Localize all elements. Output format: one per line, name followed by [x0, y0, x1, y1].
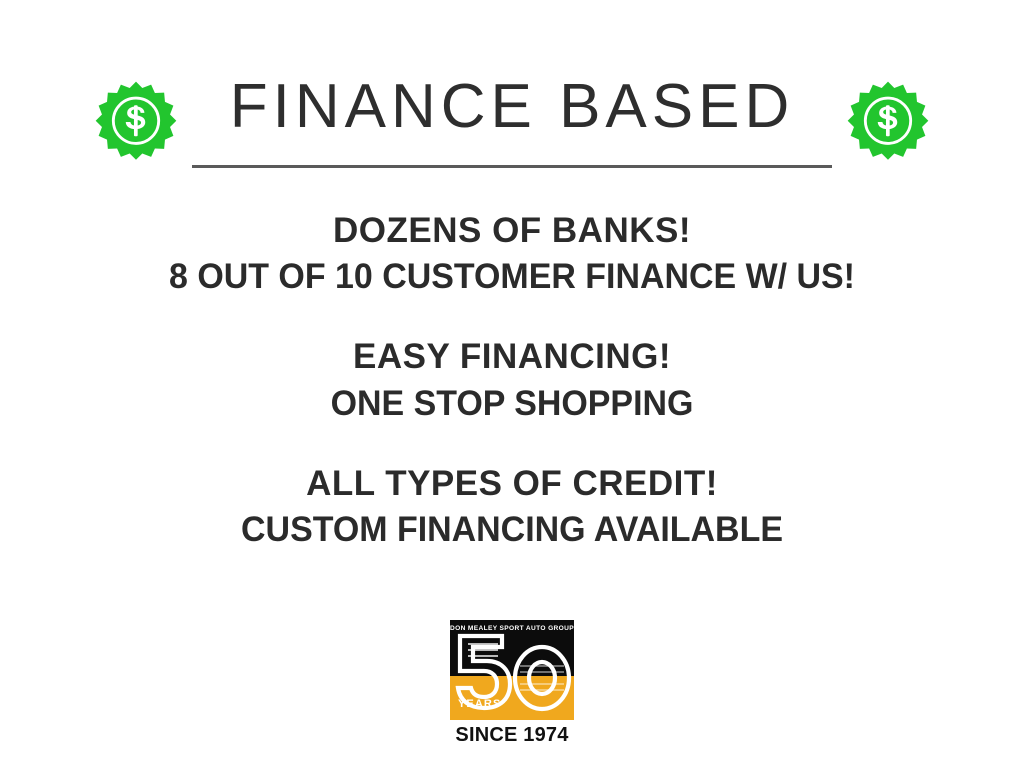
since-label: SINCE 1974: [450, 724, 574, 747]
header: FINANCE BASED: [0, 72, 1024, 182]
benefit-block-credit: ALL TYPES OF CREDIT! CUSTOM FINANCING AV…: [0, 461, 1024, 553]
benefit-headline: DOZENS OF BANKS!: [0, 208, 1024, 254]
benefit-headline: EASY FINANCING!: [0, 334, 1024, 380]
benefit-subline: CUSTOM FINANCING AVAILABLE: [15, 507, 1008, 553]
dealer-group-name: DON MEALEY SPORT AUTO GROUP: [450, 625, 574, 632]
benefit-subline: 8 OUT OF 10 CUSTOMER FINANCE W/ US!: [15, 254, 1008, 300]
title-group: FINANCE BASED: [189, 72, 835, 168]
benefit-subline: ONE STOP SHOPPING: [15, 381, 1008, 427]
years-label: YEARS: [458, 698, 501, 710]
dealer-logo: DON MEALEY SPORT AUTO GROUP: [450, 620, 574, 747]
promo-slide: FINANCE BASED DOZENS OF BANKS! 8 OUT OF: [0, 0, 1024, 768]
anniversary-badge: DON MEALEY SPORT AUTO GROUP: [450, 620, 574, 720]
benefit-block-banks: DOZENS OF BANKS! 8 OUT OF 10 CUSTOMER FI…: [0, 208, 1024, 300]
title-divider: [192, 165, 832, 168]
benefit-headline: ALL TYPES OF CREDIT!: [0, 461, 1024, 507]
gear-dollar-icon-right: [846, 80, 930, 164]
gear-dollar-icon-left: [94, 80, 178, 164]
page-title: FINANCE BASED: [230, 72, 795, 139]
benefits-list: DOZENS OF BANKS! 8 OUT OF 10 CUSTOMER FI…: [0, 208, 1024, 553]
benefit-block-financing: EASY FINANCING! ONE STOP SHOPPING: [0, 334, 1024, 426]
